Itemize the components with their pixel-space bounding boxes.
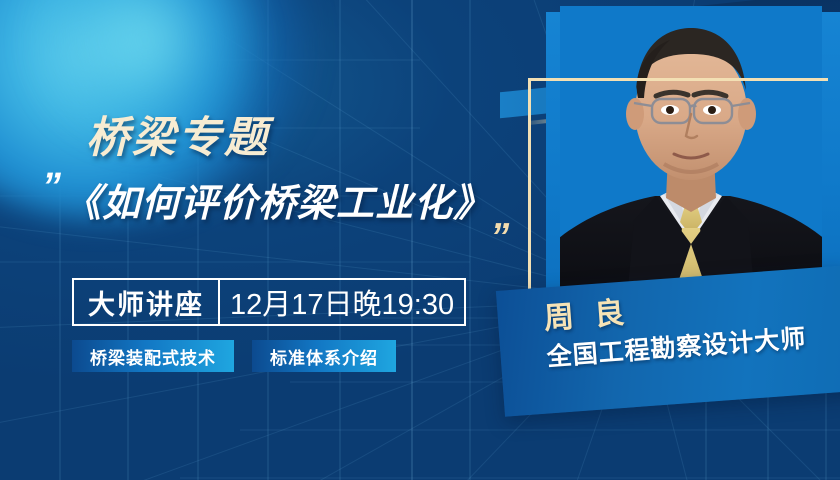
topic-tag: 桥梁装配式技术 [72,340,234,372]
lecture-datetime: 12月17日晚19:30 [220,280,464,324]
lecture-badge: 大师讲座 [74,280,220,324]
topic-tag: 标准体系介绍 [252,340,396,372]
quote-open-mark: ” [42,170,59,204]
subtitle-row: ” 《如何评价桥梁工业化》 „ [42,172,511,227]
lecture-info-bar: 大师讲座 12月17日晚19:30 [72,278,466,326]
speaker-nameplate: 周 良 全国工程勘察设计大师 [496,265,840,416]
quote-close-mark: „ [494,199,511,233]
subtitle: 《如何评价桥梁工业化》 [63,172,492,227]
page-title: 桥梁专题 [86,103,270,165]
topic-tag-list: 桥梁装配式技术 标准体系介绍 [72,340,396,372]
portrait-gold-frame [528,78,828,300]
speaker-nameplate-content: 周 良 全国工程勘察设计大师 [496,265,840,416]
lecture-poster: 周 良 全国工程勘察设计大师 桥梁专题 ” 《如何评价桥梁工业化》 „ 大师讲座… [0,0,840,480]
